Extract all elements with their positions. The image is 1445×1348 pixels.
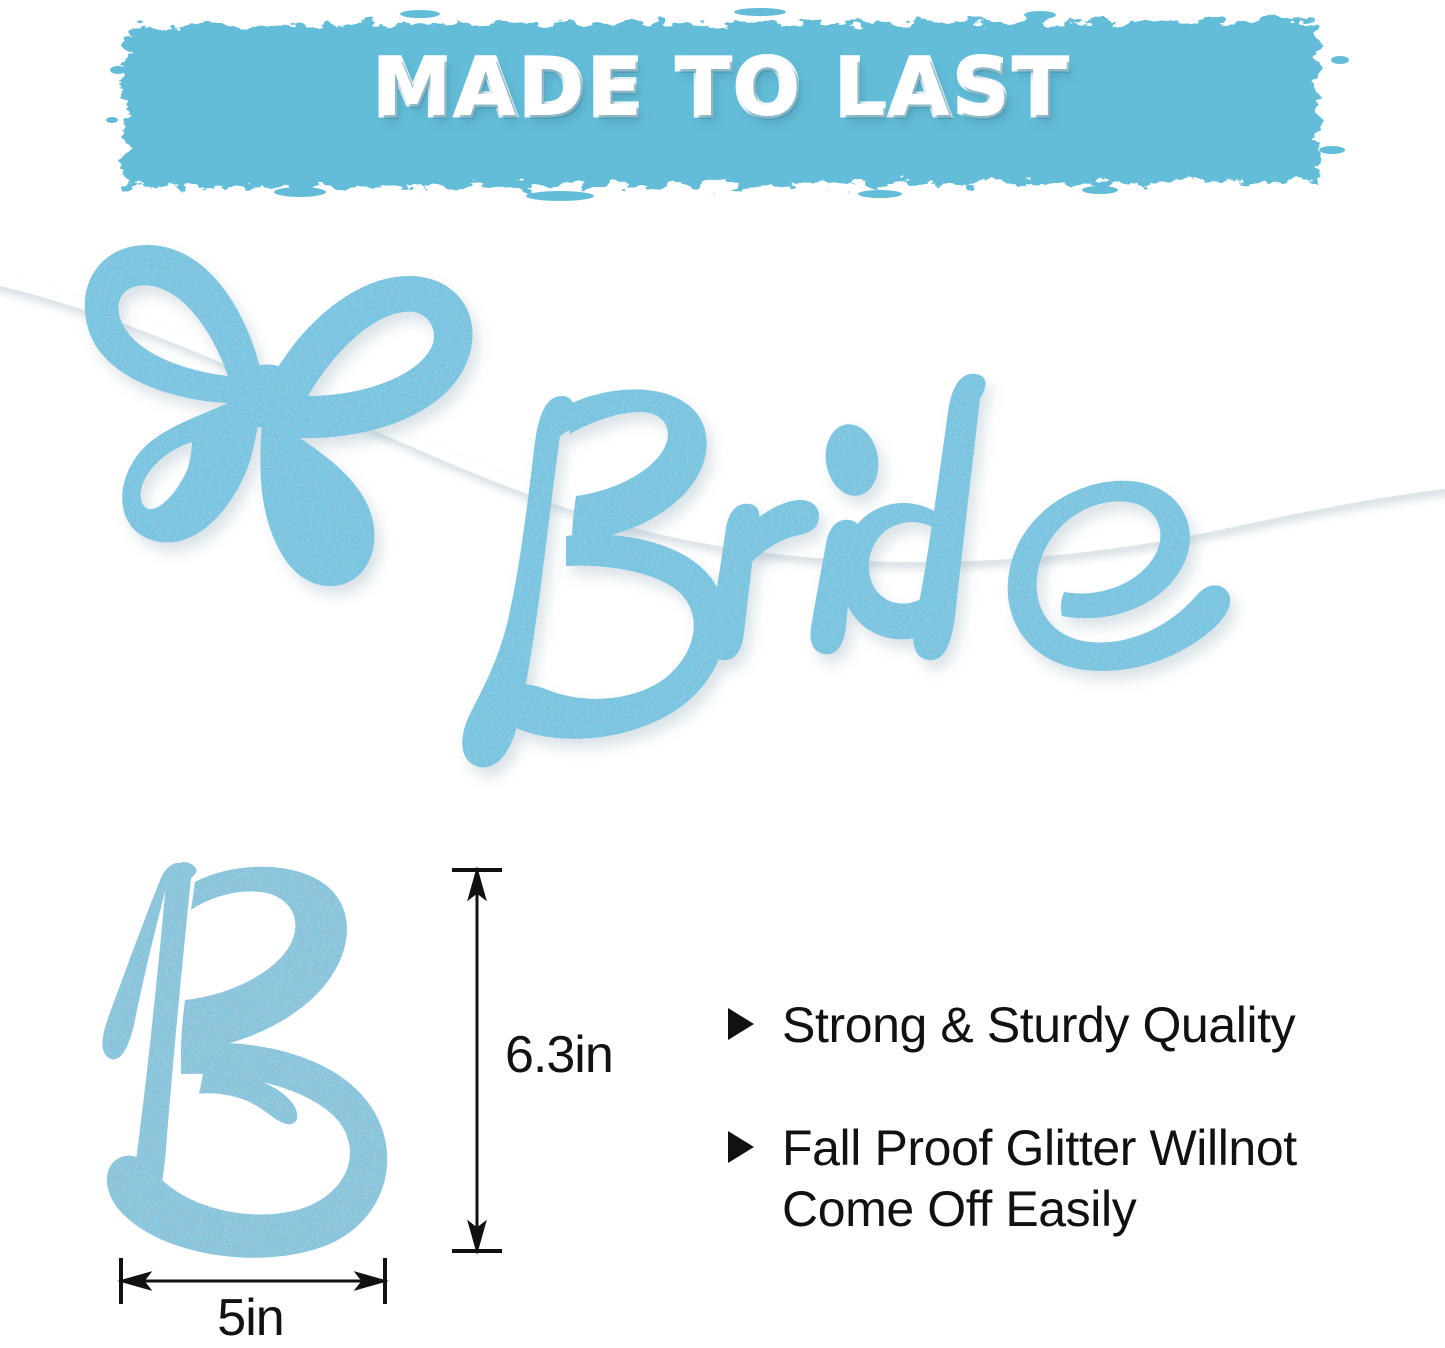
triangle-right-icon xyxy=(726,1007,756,1041)
height-dimension-label: 6.3in xyxy=(505,1025,613,1085)
feature-text: Strong & Sturdy Quality xyxy=(782,995,1295,1056)
feature-item: Strong & Sturdy Quality xyxy=(726,995,1386,1056)
feature-item: Fall Proof Glitter Willnot Come Off Easi… xyxy=(726,1118,1386,1240)
dimension-lines xyxy=(0,0,720,507)
triangle-right-icon xyxy=(726,1130,756,1164)
feature-list: Strong & Sturdy Quality Fall Proof Glitt… xyxy=(726,995,1386,1240)
feature-text: Fall Proof Glitter Willnot Come Off Easi… xyxy=(782,1118,1386,1240)
height-dimension-line xyxy=(452,868,502,1253)
width-dimension-label: 5in xyxy=(0,1288,503,1348)
